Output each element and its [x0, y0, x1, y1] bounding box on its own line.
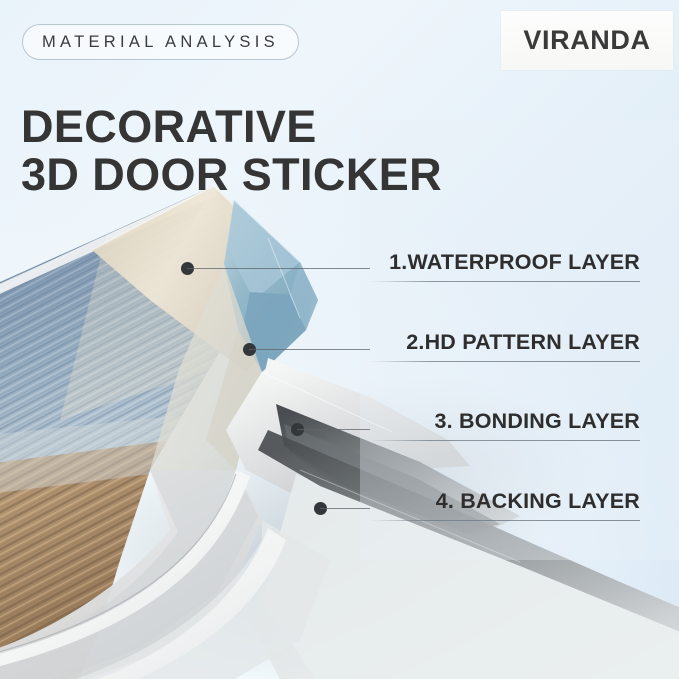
callout-rule-4	[370, 520, 640, 521]
product-infographic: MATERIAL ANALYSIS DECORATIVE 3D DOOR STI…	[0, 0, 679, 679]
callout-backing-layer: 4. BACKING LAYER	[0, 0, 640, 521]
callout-label-backing-layer: 4. BACKING LAYER	[436, 489, 640, 514]
